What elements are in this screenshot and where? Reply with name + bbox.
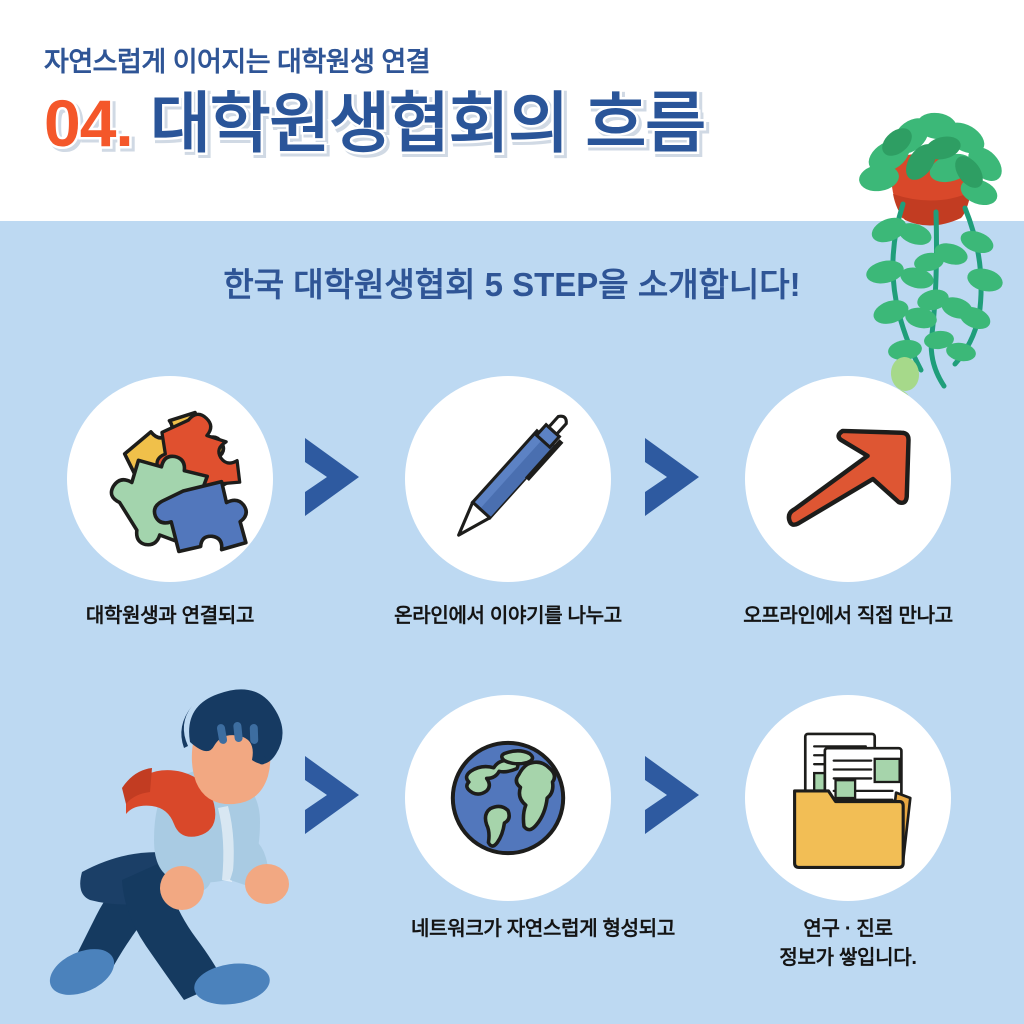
pen-icon <box>419 390 597 568</box>
chevron-right-icon-4 <box>637 750 707 840</box>
step-1-caption: 대학원생과 연결되고 <box>30 602 310 631</box>
step-3-circle[interactable] <box>745 376 951 582</box>
step-3-caption: 오프라인에서 직접 만나고 <box>708 602 988 631</box>
page-title-number: 04. <box>44 86 133 160</box>
subtitle-text: 한국 대학원생협회 5 STEP을 소개합니다! <box>0 258 1024 306</box>
step-5-caption: 연구 · 진로 정보가 쌓입니다. <box>708 915 988 973</box>
folder-documents-icon <box>759 709 937 887</box>
globe-icon <box>419 709 597 887</box>
puzzle-pieces-icon <box>81 390 259 568</box>
step-2-caption: 온라인에서 이야기를 나누고 <box>368 602 648 631</box>
step-4-circle[interactable] <box>405 695 611 901</box>
step-4-caption: 네트워크가 자연스럽게 형성되고 <box>368 915 718 944</box>
step-2-circle[interactable] <box>405 376 611 582</box>
chevron-right-icon-2 <box>637 432 707 522</box>
page-title: 04. 대학원생협회의 흐름 <box>44 90 705 156</box>
eyebrow-text: 자연스럽게 이어지는 대학원생 연결 <box>44 40 430 79</box>
page-title-text: 대학원생협회의 흐름 <box>150 86 705 160</box>
running-student-icon <box>22 672 322 1024</box>
chevron-right-icon-1 <box>297 432 367 522</box>
arrow-up-right-icon <box>759 390 937 568</box>
infographic-page: 자연스럽게 이어지는 대학원생 연결 04. 대학원생협회의 흐름 <box>0 0 1024 1024</box>
step-1-circle[interactable] <box>67 376 273 582</box>
step-5-circle[interactable] <box>745 695 951 901</box>
